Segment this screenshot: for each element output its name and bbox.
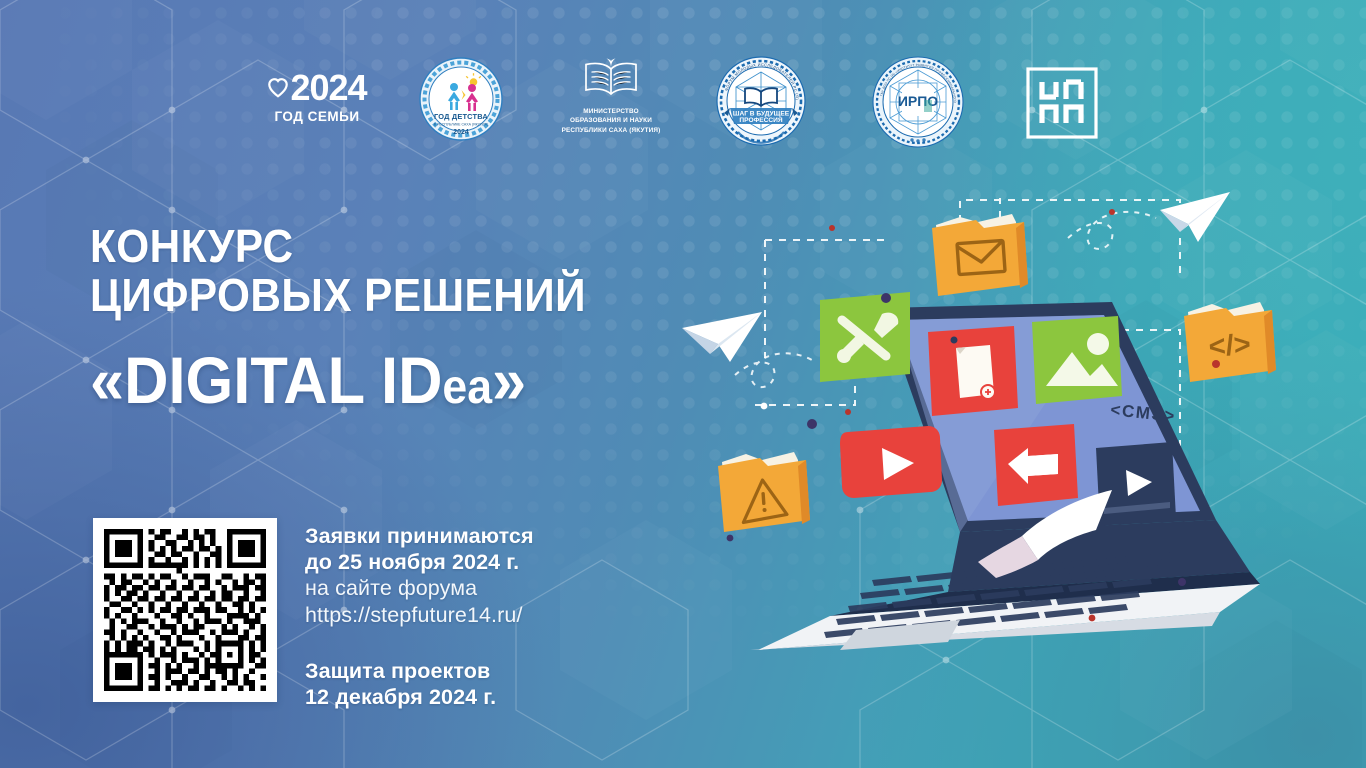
copp-square-icon xyxy=(1025,66,1099,140)
laptop-illustration: <CMS> xyxy=(660,180,1280,650)
paper-plane-icon xyxy=(1160,192,1230,242)
site-label: на сайте форума xyxy=(305,575,605,602)
logo-family-year: 2024 xyxy=(290,70,366,106)
logo-step-into-future: ШАГ В БУДУЩЕЕ ПРОФЕССИЯ ФОРУМ МОЛОДЫХ ИС… xyxy=(716,56,806,146)
heart-icon xyxy=(267,77,289,99)
logo-year-of-family: 2024 ГОД СЕМЬИ xyxy=(262,70,372,124)
logo-childhood-year: 2024 xyxy=(453,129,469,136)
logo-copp xyxy=(1025,66,1099,140)
video-play-icon xyxy=(840,426,942,498)
headline-title-close: » xyxy=(492,343,526,417)
logo-childhood-line1: ГОД ДЕТСТВА xyxy=(434,112,488,121)
open-book-icon xyxy=(582,57,640,99)
site-url[interactable]: https://stepfuture14.ru/ xyxy=(305,602,605,629)
logo-step-banner2: ПРОФЕССИЯ xyxy=(739,117,782,124)
headline-title: «DIGITAL IDea» xyxy=(90,347,591,413)
defense-line-2: 12 декабря 2024 г. xyxy=(305,684,605,710)
logo-childhood-line2: В РЕСПУБЛИКЕ САХА (ЯКУТИЯ) xyxy=(434,123,488,127)
info-block: Заявки принимаются до 25 ноября 2024 г. … xyxy=(305,523,605,710)
headline-title-open: «DIGITAL ID xyxy=(90,343,442,417)
image-icon xyxy=(1032,316,1122,404)
poster-canvas: 2024 ГОД СЕМЬИ xyxy=(0,0,1366,768)
applications-line-2: до 25 ноября 2024 г. xyxy=(305,549,605,575)
paper-plane-icon xyxy=(682,312,762,362)
logo-family-caption: ГОД СЕМЬИ xyxy=(262,109,372,124)
headline-line-1: КОНКУРС xyxy=(90,222,586,271)
defense-line-1: Защита проектов xyxy=(305,658,605,684)
tools-icon xyxy=(820,292,910,382)
media-player-icon xyxy=(1096,442,1176,526)
logo-ministry-line1: МИНИСТЕРСТВО xyxy=(549,107,673,116)
partner-logo-row: 2024 ГОД СЕМЬИ xyxy=(0,60,1366,156)
logo-irpo: ИРПО ГБУ ДПО РС (Я) «ИНСТИТУТ РАЗВИТИЯ П… xyxy=(872,56,964,148)
document-icon xyxy=(928,326,1018,416)
logo-year-of-childhood: ГОД ДЕТСТВА В РЕСПУБЛИКЕ САХА (ЯКУТИЯ) 2… xyxy=(419,57,503,141)
qr-code-image xyxy=(104,529,266,691)
warning-folder-icon xyxy=(718,452,810,532)
code-folder-label: </> xyxy=(1208,329,1252,364)
share-icon xyxy=(994,424,1078,506)
applications-line-1: Заявки принимаются xyxy=(305,523,605,549)
logo-ministry-line3: РЕСПУБЛИКИ САХА (ЯКУТИЯ) xyxy=(549,126,673,135)
logo-irpo-mark: ИРПО xyxy=(898,93,938,109)
mail-folder-icon xyxy=(932,214,1028,296)
logo-ministry-education: МИНИСТЕРСТВО ОБРАЗОВАНИЯ И НАУКИ РЕСПУБЛ… xyxy=(549,57,673,135)
code-folder-icon: </> xyxy=(1184,302,1276,382)
qr-code[interactable] xyxy=(93,518,277,702)
headline-line-2: ЦИФРОВЫХ РЕШЕНИЙ xyxy=(90,271,586,320)
headline-block: КОНКУРС ЦИФРОВЫХ РЕШЕНИЙ «DIGITAL IDea» xyxy=(90,222,629,413)
logo-ministry-line2: ОБРАЗОВАНИЯ И НАУКИ xyxy=(549,116,673,125)
headline-title-small: ea xyxy=(442,361,492,414)
